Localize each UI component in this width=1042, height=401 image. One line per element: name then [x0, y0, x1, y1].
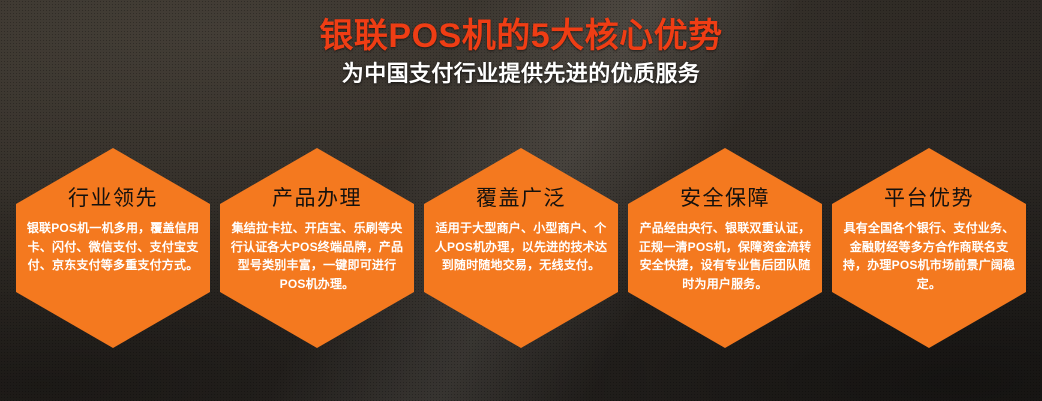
page-subtitle: 为中国支付行业提供先进的优质服务: [0, 61, 1042, 87]
page-title: 银联POS机的5大核心优势: [0, 17, 1042, 55]
advantage-card-2[interactable]: 产品办理 集结拉卡拉、开店宝、乐刷等央行认证各大POS终端品牌，产品型号类别丰富…: [220, 148, 414, 348]
advantage-description: 集结拉卡拉、开店宝、乐刷等央行认证各大POS终端品牌，产品型号类别丰富，一键即可…: [229, 219, 405, 293]
banner-header: 银联POS机的5大核心优势 为中国支付行业提供先进的优质服务: [0, 0, 1042, 87]
advantage-description: 具有全国各个银行、支付业务、金融财经等多方合作商联名支持，办理POS机市场前景广…: [841, 219, 1017, 293]
advantage-card-5[interactable]: 平台优势 具有全国各个银行、支付业务、金融财经等多方合作商联名支持，办理POS机…: [832, 148, 1026, 348]
advantage-card-3[interactable]: 覆盖广泛 适用于大型商户、小型商户、个人POS机办理，以先进的技术达到随时随地交…: [424, 148, 618, 348]
advantage-title: 产品办理: [272, 188, 362, 209]
advantages-row: 行业领先 银联POS机一机多用，覆盖信用卡、闪付、微信支付、支付宝支付、京东支付…: [16, 148, 1026, 348]
advantage-description: 适用于大型商户、小型商户、个人POS机办理，以先进的技术达到随时随地交易，无线支…: [433, 219, 609, 275]
advantage-card-4[interactable]: 安全保障 产品经由央行、银联双重认证，正规一清POS机，保障资金流转安全快捷，设…: [628, 148, 822, 348]
advantage-title: 行业领先: [68, 188, 158, 209]
advantage-description: 银联POS机一机多用，覆盖信用卡、闪付、微信支付、支付宝支付、京东支付等多重支付…: [25, 219, 201, 275]
advantage-card-1[interactable]: 行业领先 银联POS机一机多用，覆盖信用卡、闪付、微信支付、支付宝支付、京东支付…: [16, 148, 210, 348]
advantage-title: 平台优势: [884, 188, 974, 209]
advantage-title: 覆盖广泛: [476, 188, 566, 209]
advantage-title: 安全保障: [680, 188, 770, 209]
advantage-description: 产品经由央行、银联双重认证，正规一清POS机，保障资金流转安全快捷，设有专业售后…: [637, 219, 813, 293]
